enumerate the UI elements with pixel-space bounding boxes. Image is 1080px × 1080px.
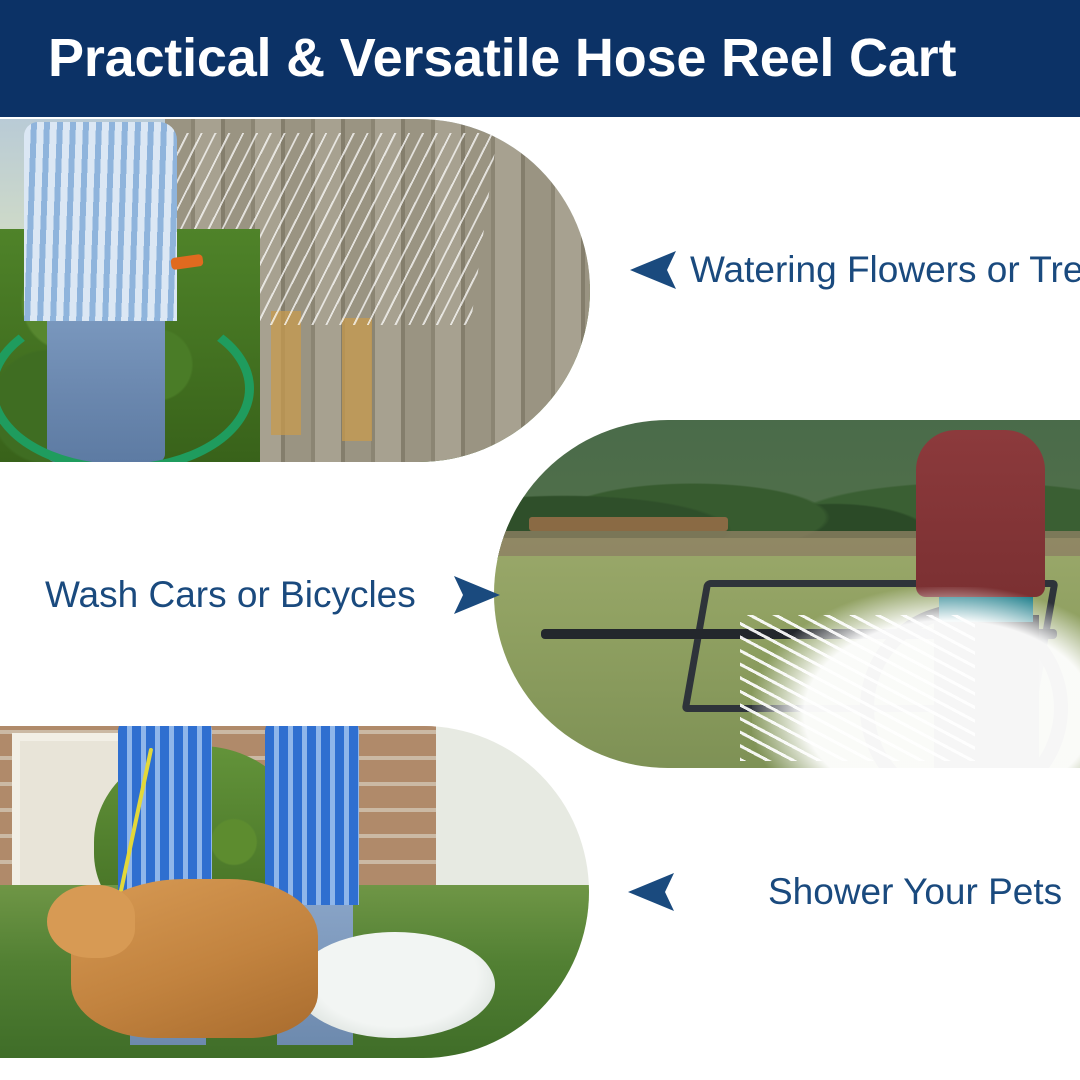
person-striped-shirt [24,122,177,321]
water-tub [295,932,495,1038]
callout-label: Wash Cars or Bicycles [45,573,416,617]
dog-head [47,885,135,958]
arrow-left-icon [626,872,678,912]
scene-art-watering [0,119,590,462]
photo-showering-pet [0,726,589,1058]
product-feature-infographic: Practical & Versatile Hose Reel Cart [0,0,1080,1080]
wooden-rail-fence [529,517,728,531]
fence-plank [271,311,301,434]
callout-wash-cars-bicycles: Wash Cars or Bicycles [45,573,502,617]
child-striped-shirt [265,726,359,905]
callout-shower-your-pets: Shower Your Pets [626,870,1062,914]
fence-plank [342,318,372,441]
callout-watering-flowers: Watering Flowers or Trees [628,248,1080,292]
scene-art-bike [494,420,1080,768]
photo-washing-bicycle [494,420,1080,768]
header-banner: Practical & Versatile Hose Reel Cart [0,0,1080,117]
water-splash [752,587,1080,768]
arrow-right-icon [450,575,502,615]
callout-label: Watering Flowers or Trees [690,248,1080,292]
callout-label: Shower Your Pets [768,870,1062,914]
scene-art-dog [0,726,589,1058]
person-maroon-hoodie [916,430,1045,597]
arrow-left-icon [628,250,680,290]
page-title: Practical & Versatile Hose Reel Cart [48,24,1048,92]
photo-watering-flowers [0,119,590,462]
